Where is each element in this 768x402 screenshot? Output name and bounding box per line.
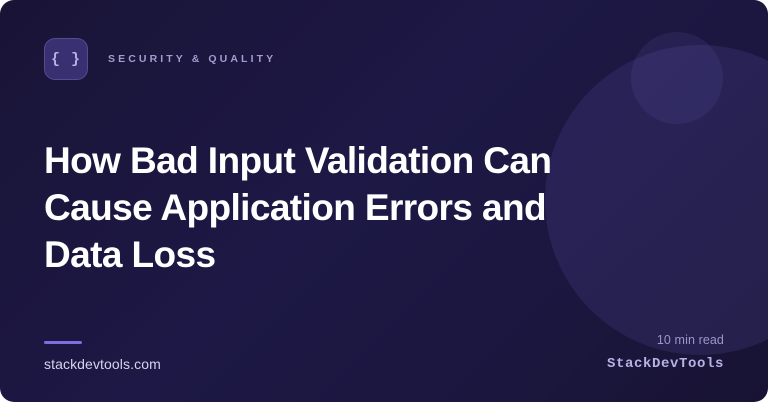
read-time-label: 10 min read (657, 333, 724, 347)
title-container: How Bad Input Validation Can Cause Appli… (44, 82, 724, 333)
logo-badge: { } (44, 38, 88, 80)
card-content: { } SECURITY & QUALITY How Bad Input Val… (0, 0, 768, 402)
header-row: { } SECURITY & QUALITY (44, 38, 724, 80)
footer-right: 10 min read StackDevTools (607, 333, 724, 372)
page-title: How Bad Input Validation Can Cause Appli… (44, 137, 574, 278)
footer-left: stackdevtools.com (44, 341, 161, 372)
hero-card: { } SECURITY & QUALITY How Bad Input Val… (0, 0, 768, 402)
category-eyebrow: SECURITY & QUALITY (108, 53, 276, 65)
curly-braces-icon: { } (51, 52, 81, 67)
footer-row: stackdevtools.com 10 min read StackDevTo… (44, 333, 724, 372)
site-domain: stackdevtools.com (44, 356, 161, 372)
brand-name: StackDevTools (607, 356, 724, 372)
accent-rule (44, 341, 82, 344)
